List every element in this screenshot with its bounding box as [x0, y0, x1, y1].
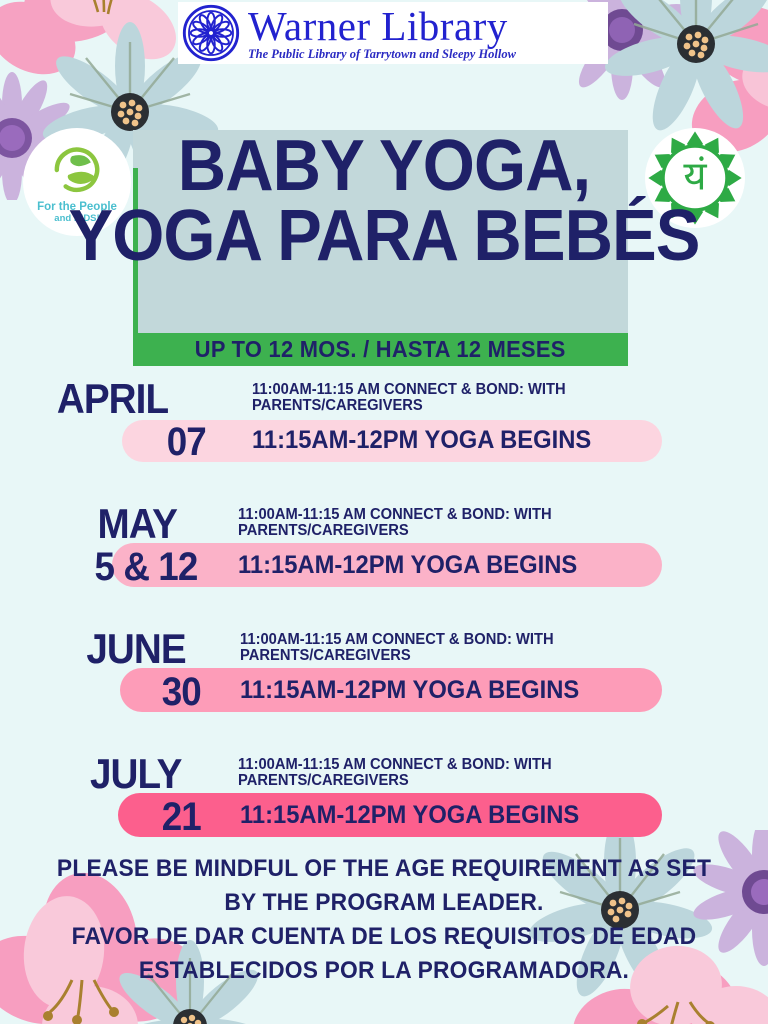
month-label: MAY: [97, 503, 177, 545]
session-text: 11:15AM-12PM YOGA BEGINS: [252, 428, 591, 453]
connect-note: 11:00AM-11:15 AM CONNECT & BOND: WITH PA…: [240, 632, 649, 664]
connect-note: 11:00AM-11:15 AM CONNECT & BOND: WITH PA…: [238, 507, 647, 539]
day-label: 21: [162, 797, 201, 837]
library-logo-band: Warner Library The Public Library of Tar…: [178, 2, 608, 64]
flyer-page: Warner Library The Public Library of Tar…: [0, 0, 768, 1024]
logo-subtitle: The Public Library of Tarrytown and Slee…: [248, 48, 516, 61]
footer-line-1: PLEASE BE MINDFUL OF THE AGE REQUIREMENT…: [19, 852, 749, 886]
logo-title: Warner Library: [248, 6, 516, 47]
day-label: 07: [167, 422, 206, 462]
session-text: 11:15AM-12PM YOGA BEGINS: [240, 678, 579, 703]
library-wheel-icon: [182, 4, 240, 62]
month-label: JULY: [90, 753, 182, 795]
schedule-list: APRIL 07 11:00AM-11:15 AM CONNECT & BOND…: [0, 376, 768, 876]
footer-disclaimer: PLEASE BE MINDFUL OF THE AGE REQUIREMENT…: [0, 852, 768, 988]
connect-note: 11:00AM-11:15 AM CONNECT & BOND: WITH PA…: [252, 382, 661, 414]
title-line-1: BABY YOGA,: [27, 133, 741, 199]
age-requirement-banner: UP TO 12 MOS. / HASTA 12 MESES: [133, 333, 628, 366]
footer-line-4: ESTABLECIDOS POR LA PROGRAMADORA.: [19, 954, 749, 988]
schedule-row-june: JUNE 30 11:00AM-11:15 AM CONNECT & BOND:…: [0, 626, 768, 751]
footer-line-3: FAVOR DE DAR CUENTA DE LOS REQUISITOS DE…: [19, 920, 749, 954]
month-label: APRIL: [57, 378, 168, 420]
footer-line-2: BY THE PROGRAM LEADER.: [19, 886, 749, 920]
age-banner-text: UP TO 12 MOS. / HASTA 12 MESES: [195, 336, 566, 363]
page-title: BABY YOGA, YOGA PARA BEBÉS: [0, 133, 768, 269]
session-text: 11:15AM-12PM YOGA BEGINS: [240, 803, 579, 828]
day-label: 30: [162, 672, 201, 712]
schedule-row-may: MAY 5 & 12 11:00AM-11:15 AM CONNECT & BO…: [0, 501, 768, 626]
day-label: 5 & 12: [94, 547, 197, 587]
title-line-2: YOGA PARA BEBÉS: [27, 203, 741, 269]
schedule-row-april: APRIL 07 11:00AM-11:15 AM CONNECT & BOND…: [0, 376, 768, 501]
connect-note: 11:00AM-11:15 AM CONNECT & BOND: WITH PA…: [238, 757, 647, 789]
month-label: JUNE: [86, 628, 185, 670]
session-text: 11:15AM-12PM YOGA BEGINS: [238, 553, 577, 578]
